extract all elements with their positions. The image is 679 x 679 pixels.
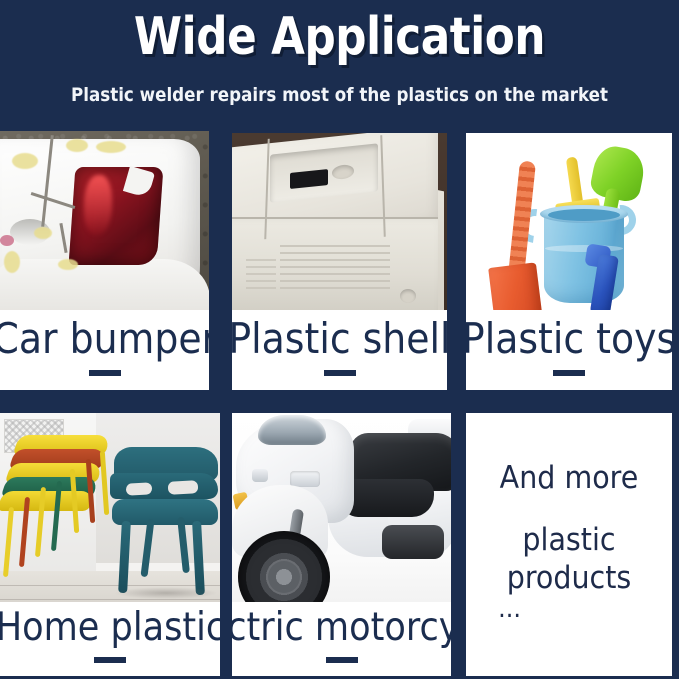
paint-mark <box>0 235 14 246</box>
and-more-line1: And more <box>474 459 664 497</box>
card-label-text: Electric motorcycle <box>232 608 451 647</box>
card-label-text: Plastic toys <box>466 318 672 360</box>
bumper-scene <box>0 131 209 310</box>
card-plastic-toys-image <box>466 133 672 316</box>
teal-chair <box>110 447 218 597</box>
shell-seam-line <box>232 217 438 219</box>
label-underline-bar <box>553 370 585 376</box>
card-electric-motorcycle-label: Electric motorcycle <box>232 602 451 676</box>
and-more-text-block: And more plastic products ... <box>474 459 664 619</box>
tail-light-glow <box>84 175 112 235</box>
stacked-chairs <box>2 435 122 595</box>
chair-leg <box>192 521 205 595</box>
card-plastic-shell-label: Plastic shell <box>232 310 447 390</box>
scooter-headlight <box>258 415 326 445</box>
card-car-bumper-label: Car bumper <box>0 310 209 390</box>
card-electric-motorcycle-image <box>232 413 451 613</box>
scooter-turn-signal <box>252 469 268 482</box>
card-car-bumper-image <box>0 131 209 310</box>
floor-plank-line <box>0 599 220 600</box>
putty-blob <box>4 251 20 273</box>
card-label-text: Home plastic <box>0 608 220 647</box>
putty-blob <box>58 259 78 270</box>
scooter-seat-lower <box>342 479 434 517</box>
electric-scooter-scene <box>232 413 451 613</box>
chair-leg <box>140 519 154 577</box>
chair-leg <box>118 521 131 593</box>
plastic-toys-scene <box>466 133 672 316</box>
scooter-wheel-hub <box>268 561 300 593</box>
shell-foot <box>400 289 416 303</box>
chair-back-gap <box>126 482 153 495</box>
card-home-plastic-label: Home plastic <box>0 602 220 676</box>
card-plastic-shell-image <box>232 133 447 314</box>
chair-leg <box>3 507 14 577</box>
and-more-line2: plastic products <box>474 521 664 597</box>
putty-blob <box>12 153 38 169</box>
chair-leg <box>100 451 109 515</box>
and-more-panel: And more plastic products ... <box>466 413 672 676</box>
scooter-motor-unit <box>382 525 444 559</box>
label-underline-bar <box>324 370 356 376</box>
stacked-chair-yellow <box>0 491 95 511</box>
chair-leg <box>177 517 190 573</box>
shell-vents <box>246 259 276 289</box>
putty-blob <box>66 139 88 152</box>
label-underline-bar <box>94 657 126 663</box>
label-underline-bar <box>89 370 121 376</box>
label-underline-bar <box>326 657 358 663</box>
card-home-plastic-image <box>0 413 220 613</box>
card-home-plastic[interactable]: Home plastic <box>0 413 220 676</box>
orange-shovel-blade <box>488 262 544 316</box>
putty-blob <box>96 141 126 153</box>
application-card-grid: Car bumper Plastic shell <box>0 125 679 679</box>
home-interior-scene <box>0 413 220 613</box>
card-plastic-shell[interactable]: Plastic shell <box>232 133 447 390</box>
card-plastic-toys-label: Plastic toys <box>466 310 672 390</box>
card-plastic-toys[interactable]: Plastic toys <box>466 133 672 390</box>
plastic-shell-scene <box>232 133 447 314</box>
scooter-turn-signal <box>290 471 320 487</box>
header-banner: Wide Application Plastic welder repairs … <box>0 0 679 125</box>
page-subtitle: Plastic welder repairs most of the plast… <box>41 83 639 107</box>
card-electric-motorcycle[interactable]: Electric motorcycle <box>232 413 451 676</box>
shell-vents <box>280 245 390 289</box>
chair-back-gap <box>168 480 199 495</box>
bumper-lower-panel <box>0 259 209 310</box>
and-more-ellipsis: ... <box>474 599 664 619</box>
bucket-interior <box>548 209 620 221</box>
page-title: Wide Application <box>54 6 624 68</box>
card-label-text: Car bumper <box>0 318 209 360</box>
card-label-text: Plastic shell <box>232 318 447 360</box>
card-and-more-products[interactable]: And more plastic products ... <box>466 413 672 676</box>
bucket-highlight-band <box>545 245 623 252</box>
card-car-bumper[interactable]: Car bumper <box>0 131 209 390</box>
chair-shadow <box>114 587 218 599</box>
putty-blob <box>34 227 52 239</box>
